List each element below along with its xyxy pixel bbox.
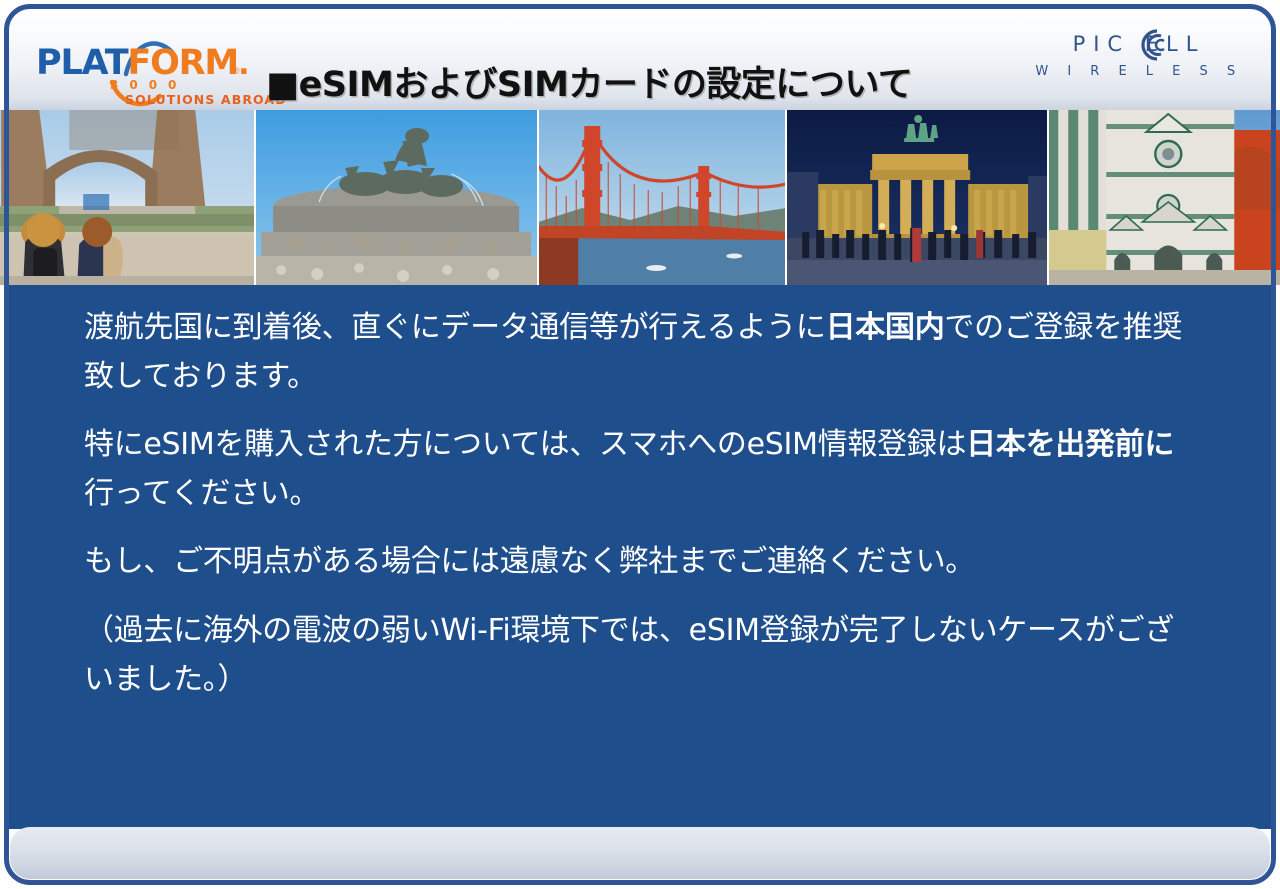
text-run-2: 日本を出発前に (966, 427, 1174, 462)
platform-word-plat: PLAT (36, 43, 127, 83)
body-content: 渡航先国に到着後、直ぐにデータ通信等が行えるように日本国内でのご登録を推奨致して… (84, 304, 1184, 704)
paragraph-2: 特にeSIMを購入された方については、スマホへのeSIM情報登録は日本を出発前に… (84, 421, 1184, 518)
piccell-subtitle: W I R E L E S S (1024, 64, 1254, 79)
paragraph-1: 渡航先国に到着後、直ぐにデータ通信等が行えるように日本国内でのご登録を推奨致して… (84, 304, 1184, 401)
slide-header: PLATFORM. ® 3000 SOLUTIONS ABROAD ■eSIMお… (4, 4, 1276, 110)
photo-golden-gate-bridge (539, 110, 787, 285)
destination-photo-strip (0, 110, 1280, 285)
platform-wordmark: PLATFORM. (36, 46, 248, 81)
text-run-1: （過去に海外の電波の弱いWi-Fi環境下では、eSIM登録が完了しないケースがご… (84, 613, 1174, 697)
page-title: ■eSIMおよびSIMカードの設定について (266, 56, 1046, 107)
platform-word-dot: . (238, 47, 248, 82)
text-run-3: 行ってください。 (84, 476, 319, 511)
platform-subnumber: 3000 (110, 78, 187, 92)
text-run-1: 渡航先国に到着後、直ぐにデータ通信等が行えるように (84, 310, 826, 345)
photo-eiffel-tower-tourists (0, 110, 256, 285)
platform3000-logo: PLATFORM. ® 3000 SOLUTIONS ABROAD (30, 30, 270, 106)
platform-tagline: SOLUTIONS ABROAD (125, 92, 287, 107)
piccell-wireless-logo: PIC ELL W I R E L E S S (1024, 28, 1254, 90)
slide-root: PLATFORM. ® 3000 SOLUTIONS ABROAD ■eSIMお… (0, 0, 1280, 889)
platform-word-form: FORM (127, 43, 238, 83)
text-run-2: 日本国内 (826, 310, 945, 345)
paragraph-3: もし、ご不明点がある場合には遠慮なく弊社までご連絡ください。 (84, 538, 1184, 587)
footer-bar (10, 827, 1270, 879)
piccell-double-c-icon (1127, 28, 1181, 62)
platform-registered-mark: ® (233, 66, 240, 76)
photo-gefion-fountain (256, 110, 538, 285)
text-run-1: もし、ご不明点がある場合には遠慮なく弊社までご連絡ください。 (84, 544, 975, 579)
photo-brandenburg-gate (787, 110, 1049, 285)
text-run-1: 特にeSIMを購入された方については、スマホへのeSIM情報登録は (84, 427, 966, 462)
paragraph-4: （過去に海外の電波の弱いWi-Fi環境下では、eSIM登録が完了しないケースがご… (84, 607, 1184, 704)
photo-florence-duomo (1049, 110, 1280, 285)
